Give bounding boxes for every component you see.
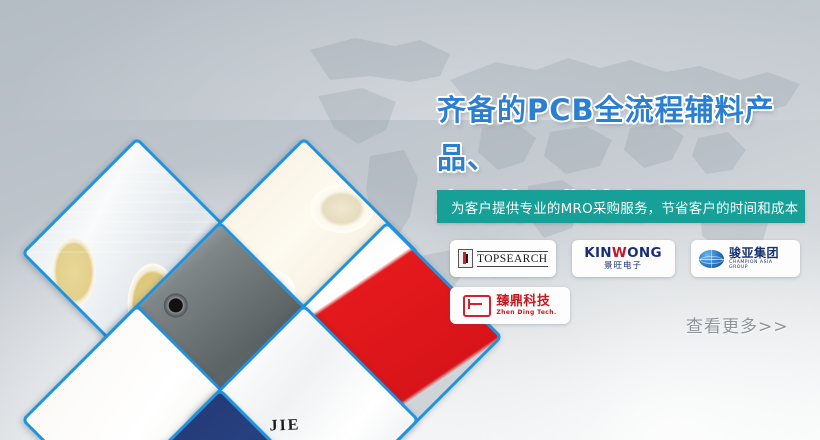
subtitle-text: 为客户提供专业的MRO采购服务，节省客户的时间和成本 xyxy=(437,197,798,217)
view-more-link[interactable]: 查看更多>> xyxy=(686,312,789,337)
zhending-mark-icon xyxy=(463,295,491,317)
kinwong-wordmark: KINWONG xyxy=(584,247,662,261)
champion-asia-cn-name: 骏亚集团 xyxy=(729,247,792,259)
jie-watermark: JIE xyxy=(269,417,301,436)
logo-topsearch[interactable]: TOPSEARCH xyxy=(450,240,556,277)
logo-champion-asia[interactable]: 骏亚集团 CHAMPION ASIA GROUP xyxy=(691,240,800,277)
logo-kinwong[interactable]: KINWONG 景旺电子 xyxy=(572,240,675,277)
champion-asia-en-name: CHAMPION ASIA GROUP xyxy=(729,261,792,270)
logo-row-1: TOPSEARCH KINWONG 景旺电子 骏亚集团 CHAMPION ASI… xyxy=(450,240,800,277)
kinwong-part-b: W xyxy=(612,245,627,261)
globe-icon xyxy=(699,250,724,268)
zhending-cn-name: 臻鼎科技 xyxy=(496,295,556,308)
topsearch-wordmark: TOPSEARCH xyxy=(477,251,548,267)
headline-line-1: 齐备的PCB全流程辅料产品、 xyxy=(437,86,815,182)
kinwong-part-a: KIN xyxy=(584,245,612,261)
promo-banner: JIE 齐备的PCB全流程辅料产品、 充足的现货储备 为客户提供专业的MRO采购… xyxy=(0,0,820,440)
topsearch-mark-icon xyxy=(458,249,473,268)
logo-zhen-ding-tech[interactable]: 臻鼎科技 Zhen Ding Tech. xyxy=(450,287,570,324)
kinwong-cn-name: 景旺电子 xyxy=(604,262,642,271)
product-collage: JIE xyxy=(0,0,430,440)
subtitle-bar: 为客户提供专业的MRO采购服务，节省客户的时间和成本 xyxy=(437,190,805,223)
zhending-en-name: Zhen Ding Tech. xyxy=(496,310,556,316)
kinwong-part-c: ONG xyxy=(627,245,662,261)
